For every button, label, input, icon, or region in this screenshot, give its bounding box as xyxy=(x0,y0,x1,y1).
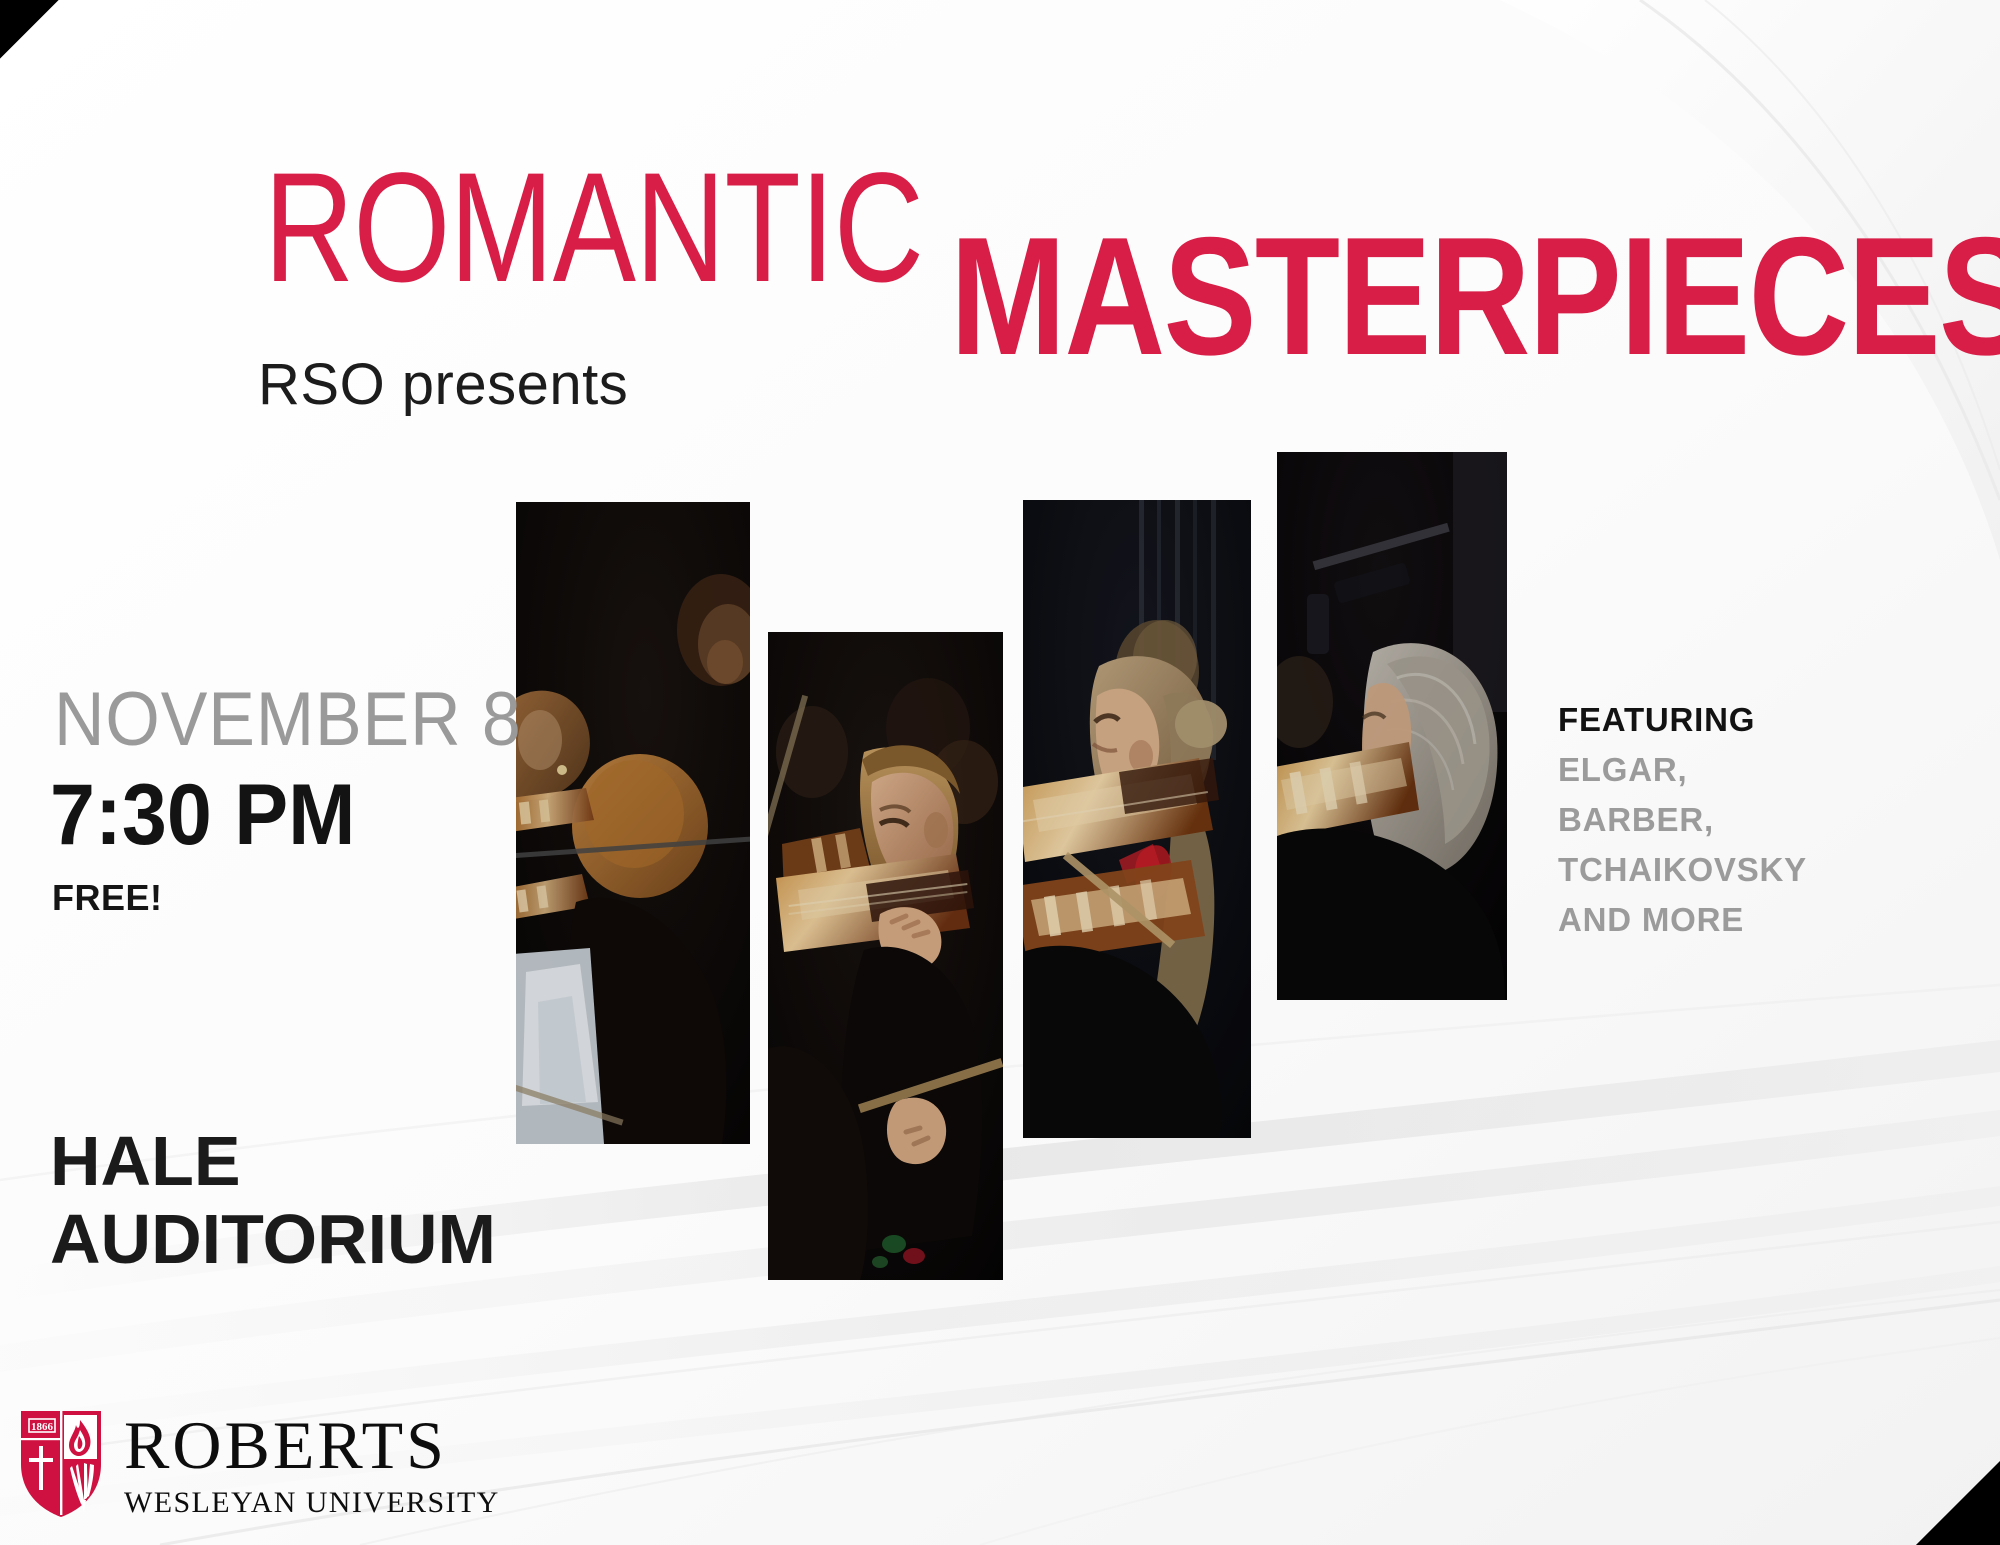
orchestra-photo-panel-3 xyxy=(1023,500,1251,1138)
venue-line-1: HALE xyxy=(50,1122,496,1200)
event-price: FREE! xyxy=(52,880,163,916)
orchestra-photo-panel-4 xyxy=(1277,452,1507,1000)
featuring-heading: FEATURING xyxy=(1558,695,1958,745)
featuring-composer-0: ELGAR, xyxy=(1558,745,1958,795)
title-masterpieces: MASTERPIECES xyxy=(950,212,2000,380)
title-romantic: ROMANTIC xyxy=(264,150,923,306)
featuring-composer-3: AND MORE xyxy=(1558,895,1958,945)
event-venue: HALE AUDITORIUM xyxy=(50,1122,496,1279)
shield-icon: 1866 xyxy=(18,1408,104,1520)
logo-wordmark: ROBERTS WESLEYAN UNIVERSITY xyxy=(124,1411,500,1518)
event-date: NOVEMBER 8 xyxy=(54,682,522,758)
orchestra-photo-panel-2 xyxy=(768,632,1003,1280)
logo-name: ROBERTS xyxy=(124,1411,500,1479)
headline-block: ROMANTIC MASTERPIECES xyxy=(0,150,2000,450)
featuring-composer-1: BARBER, xyxy=(1558,795,1958,845)
corner-stripe-bottom-right-inner xyxy=(1635,1189,2000,1545)
roberts-wesleyan-logo: 1866 ROBERTS WESLEYAN UNIVERSITY xyxy=(18,1408,500,1520)
featuring-composer-2: TCHAIKOVSKY xyxy=(1558,845,1958,895)
corner-stripe-bottom-right-outer xyxy=(1791,1099,2000,1545)
shield-year-text: 1866 xyxy=(31,1421,54,1433)
venue-line-2: AUDITORIUM xyxy=(50,1200,496,1278)
logo-subname: WESLEYAN UNIVERSITY xyxy=(124,1488,500,1518)
orchestra-photo-panel-1 xyxy=(516,502,750,1144)
concert-poster: ROMANTIC MASTERPIECES RSO presents NOVEM… xyxy=(0,0,2000,1545)
featuring-block: FEATURING ELGAR, BARBER, TCHAIKOVSKY AND… xyxy=(1558,695,1958,945)
event-time: 7:30 PM xyxy=(50,772,356,858)
